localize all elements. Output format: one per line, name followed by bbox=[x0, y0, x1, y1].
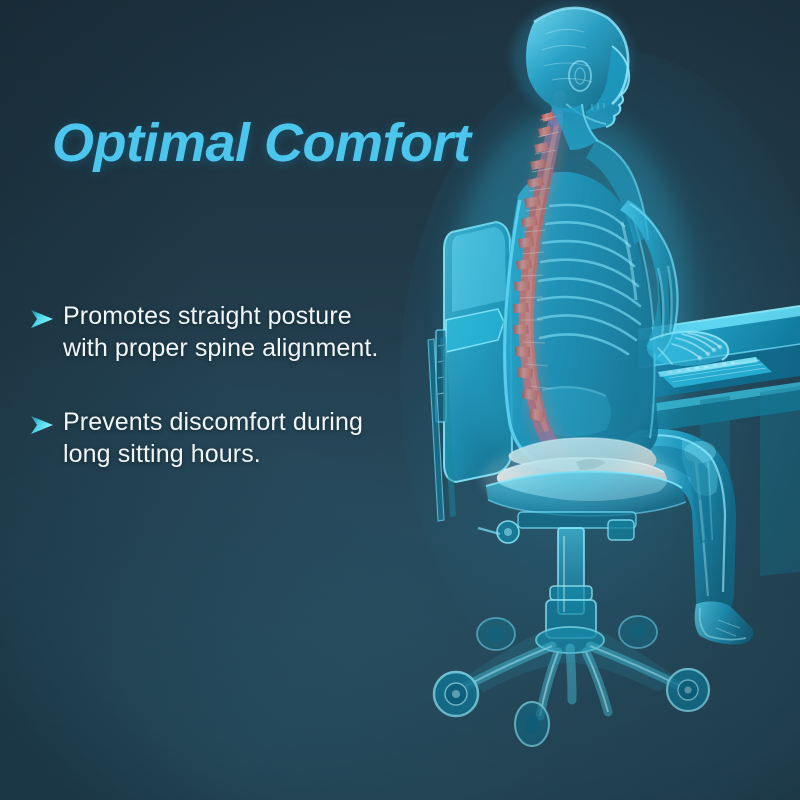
page-title: Optimal Comfort bbox=[52, 112, 471, 174]
arrowhead-icon bbox=[30, 415, 54, 435]
list-item-line-2: long sitting hours. bbox=[63, 438, 430, 470]
benefits-list: Promotes straight posture with proper sp… bbox=[30, 300, 430, 512]
text-panel: Optimal Comfort Pr bbox=[0, 0, 470, 800]
list-item: Promotes straight posture with proper sp… bbox=[30, 300, 430, 364]
list-item-line-1: Prevents discomfort during bbox=[63, 406, 430, 438]
list-item-line-2: with proper spine alignment. bbox=[63, 332, 430, 364]
arrowhead-icon bbox=[30, 309, 54, 329]
infographic-canvas: Optimal Comfort Pr bbox=[0, 0, 800, 800]
list-item-line-1: Promotes straight posture bbox=[63, 300, 430, 332]
list-item: Prevents discomfort during long sitting … bbox=[30, 406, 430, 470]
